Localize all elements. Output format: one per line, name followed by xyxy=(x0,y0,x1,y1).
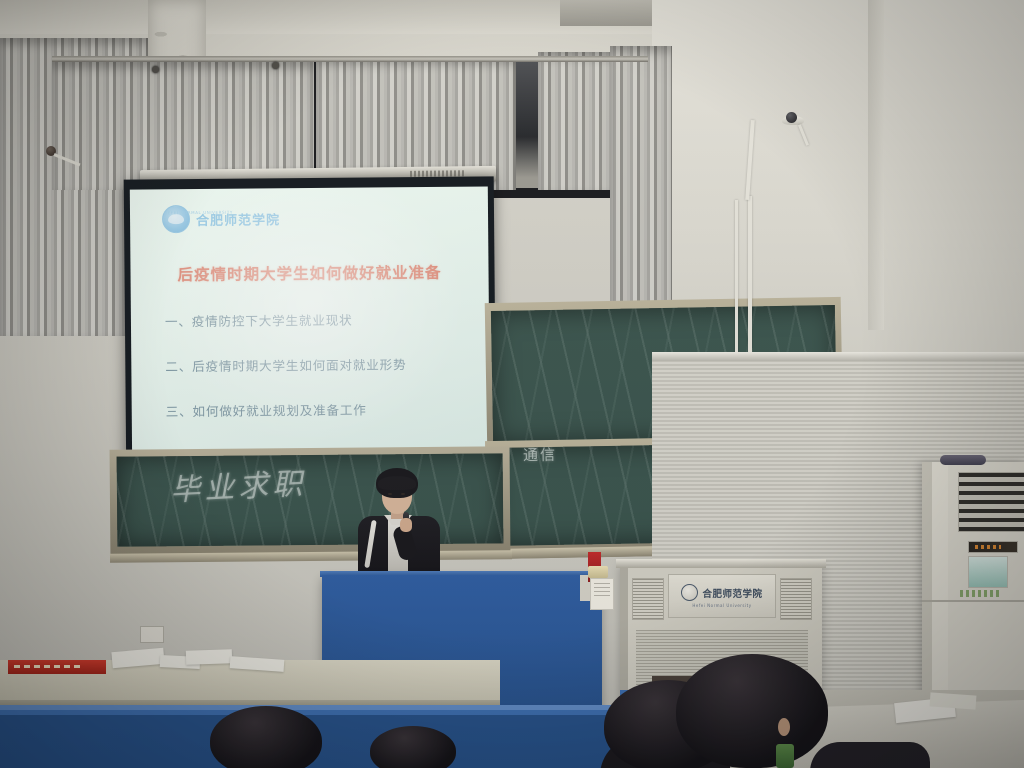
desk-notice-paper xyxy=(590,578,614,610)
list-item: 一、疫情防控下大学生就业现状 xyxy=(165,309,473,331)
slide-title: 后疫情时期大学生如何做好就业准备 xyxy=(130,260,488,285)
presentation-slide: 合肥师范学院 HEFEI NORMAL UNIVERSITY 后疫情时期大学生如… xyxy=(130,186,490,465)
student-head xyxy=(370,726,456,768)
wall-power-socket[interactable] xyxy=(140,626,164,643)
curtain-rail xyxy=(52,56,648,62)
podium-top-surface xyxy=(616,559,826,568)
podium-nameplate: 合肥师范学院 Hefei Normal University xyxy=(668,574,776,618)
wall-panel-cap xyxy=(652,352,1024,361)
wall-camera-left xyxy=(46,146,56,156)
slide-logo: 合肥师范学院 xyxy=(162,204,280,233)
student-head xyxy=(676,654,828,768)
bench-highlight xyxy=(0,705,640,710)
student-head xyxy=(210,706,322,768)
list-item: 三、如何做好就业规划及准备工作 xyxy=(166,399,474,421)
ac-display[interactable] xyxy=(968,541,1018,553)
speaker-eye xyxy=(401,493,405,495)
podium-plaque-cn: 合肥师范学院 xyxy=(702,586,762,600)
water-bottle xyxy=(776,744,794,768)
ac-seam xyxy=(922,600,1024,602)
list-item: 二、后疫情时期大学生如何面对就业形势 xyxy=(165,354,473,376)
curtain-right xyxy=(610,46,672,338)
ac-top-cap xyxy=(940,455,986,465)
podium-nameplate-row: 合肥师范学院 xyxy=(681,584,762,601)
slide-logo-en: HEFEI NORMAL UNIVERSITY xyxy=(164,210,233,216)
curtain-hook-icon xyxy=(272,62,279,69)
camera-lens-icon xyxy=(786,112,797,123)
desk-mug xyxy=(588,566,608,578)
window-gap xyxy=(516,60,538,188)
speaker-person xyxy=(344,468,454,588)
ac-control-panel[interactable] xyxy=(968,556,1008,588)
paper-stack xyxy=(186,649,232,665)
wall-column xyxy=(868,0,884,330)
university-seal-icon xyxy=(681,584,698,601)
red-booklet xyxy=(8,660,106,674)
curtain-hook-icon xyxy=(152,66,159,73)
speaker-hair-fringe xyxy=(378,476,416,490)
ac-brand-mark xyxy=(960,590,1000,597)
student-ear xyxy=(778,718,790,736)
slide-agenda-list: 一、疫情防控下大学生就业现状 二、后疫情时期大学生如何面对就业形势 三、如何做好… xyxy=(165,309,474,447)
podium-plaque-en: Hefei Normal University xyxy=(692,603,751,608)
speaker-eye xyxy=(388,493,392,495)
podium-speaker-grille-left xyxy=(632,578,664,620)
ac-louvers-icon xyxy=(958,472,1024,532)
projector-screen: 合肥师范学院 HEFEI NORMAL UNIVERSITY 后疫情时期大学生如… xyxy=(124,176,497,477)
speaker-hand xyxy=(400,518,412,532)
lecture-hall-scene: 合肥师范学院 HEFEI NORMAL UNIVERSITY 后疫情时期大学生如… xyxy=(0,0,1024,768)
student-shoulder xyxy=(810,742,930,768)
podium-speaker-grille-right xyxy=(780,578,812,620)
